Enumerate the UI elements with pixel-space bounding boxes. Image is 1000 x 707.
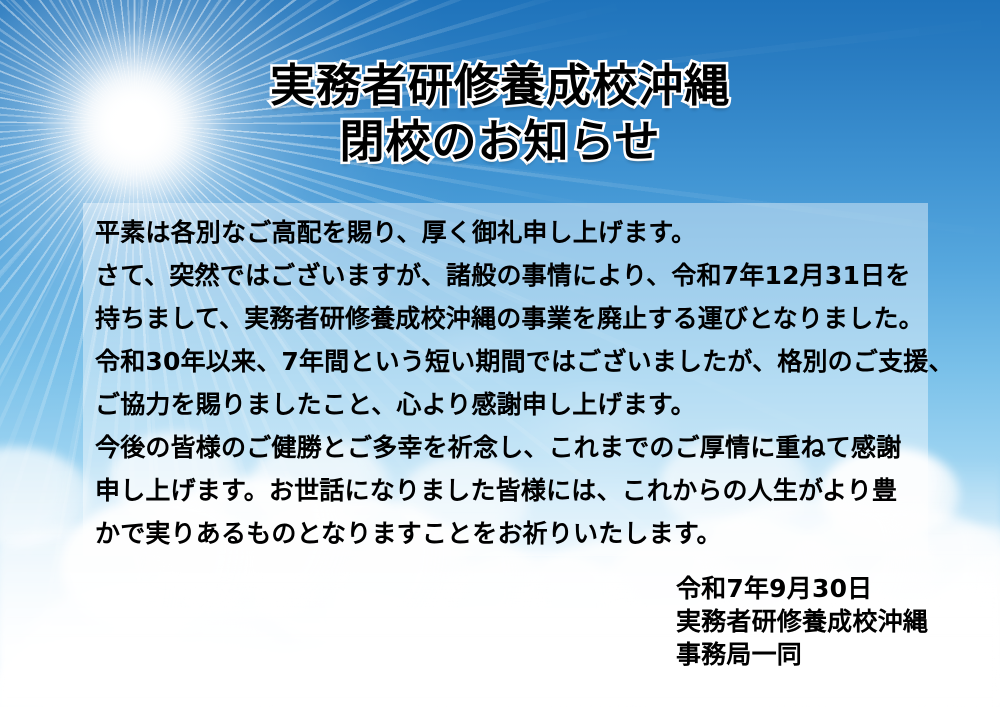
signature-line: 実務者研修養成校沖縄 bbox=[676, 605, 928, 638]
notice-body-line: 平素は各別なご高配を賜り、厚く御礼申し上げます。 bbox=[95, 211, 918, 254]
notice-body-line: かで実りあるものとなりますことをお祈りいたします。 bbox=[95, 512, 918, 555]
title-line-2: 閉校のお知らせ bbox=[0, 114, 1000, 170]
closure-notice-poster: 実務者研修養成校沖縄 閉校のお知らせ 平素は各別なご高配を賜り、厚く御礼申し上げ… bbox=[0, 0, 1000, 707]
notice-body-line: 申し上げます。お世話になりました皆様には、これからの人生がより豊 bbox=[95, 469, 918, 512]
cloud-puff bbox=[350, 607, 640, 707]
notice-body-line: さて、突然ではございますが、諸般の事情により、令和7年12月31日を bbox=[95, 254, 918, 297]
signature-line: 事務局一同 bbox=[676, 638, 928, 671]
title-line-1: 実務者研修養成校沖縄 bbox=[0, 58, 1000, 114]
notice-body-line: 今後の皆様のご健勝とご多幸を祈念し、これまでのご厚情に重ねて感謝 bbox=[95, 426, 918, 469]
notice-body-panel: 平素は各別なご高配を賜り、厚く御礼申し上げます。さて、突然ではございますが、諸般… bbox=[83, 203, 928, 556]
cloud-puff bbox=[420, 552, 650, 702]
signature-line: 令和7年9月30日 bbox=[676, 572, 928, 605]
cloud-puff bbox=[0, 447, 90, 547]
cloud-puff bbox=[200, 642, 540, 707]
notice-body-line: ご協力を賜りましたこと、心より感謝申し上げます。 bbox=[95, 383, 918, 426]
signature-block: 令和7年9月30日実務者研修養成校沖縄事務局一同 bbox=[676, 572, 928, 671]
poster-title: 実務者研修養成校沖縄 閉校のお知らせ bbox=[0, 58, 1000, 170]
notice-body-line: 令和30年以来、7年間という短い期間ではございましたが、格別のご支援、 bbox=[95, 340, 918, 383]
cloud-puff bbox=[20, 577, 280, 707]
cloud-puff bbox=[180, 592, 460, 707]
notice-body-line: 持ちまして、実務者研修養成校沖縄の事業を廃止する運びとなりました。 bbox=[95, 297, 918, 340]
cloud-puff bbox=[0, 632, 290, 707]
cloud-puff bbox=[930, 547, 1000, 697]
